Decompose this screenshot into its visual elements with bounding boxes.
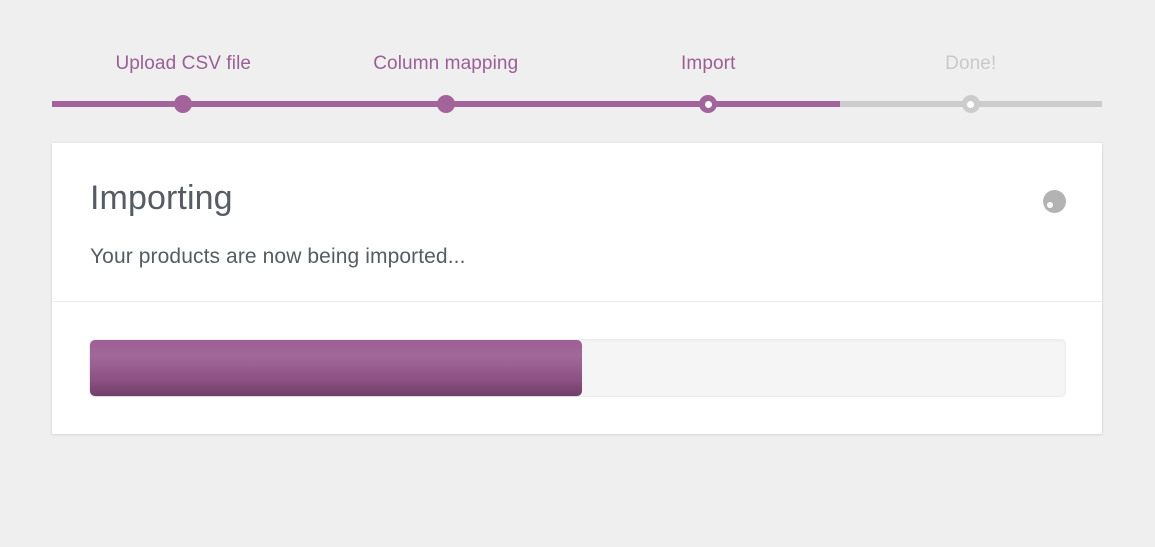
- stepper-dot-inner: [967, 101, 974, 108]
- wizard-stepper: Upload CSV file Column mapping Import Do…: [52, 52, 1102, 110]
- stepper-dot-upload-csv-file[interactable]: [174, 95, 192, 113]
- stepper-label-upload-csv-file[interactable]: Upload CSV file: [115, 52, 251, 76]
- stepper-dot-column-mapping[interactable]: [437, 95, 455, 113]
- import-progress-bar: [89, 339, 1066, 397]
- import-progress-fill: [90, 340, 582, 396]
- import-wizard-page: Upload CSV file Column mapping Import Do…: [0, 0, 1155, 547]
- status-message: Your products are now being imported...: [90, 243, 1064, 271]
- card-header: Importing Your products are now being im…: [52, 143, 1102, 302]
- stepper-dot-inner: [705, 101, 712, 108]
- stepper-label-import[interactable]: Import: [681, 52, 735, 76]
- loading-spinner-icon: [1043, 190, 1066, 213]
- stepper-dot-import[interactable]: [699, 95, 717, 113]
- import-status-card: Importing Your products are now being im…: [52, 143, 1102, 434]
- stepper-label-done: Done!: [945, 52, 996, 76]
- spinner-dot: [1047, 202, 1053, 208]
- page-title: Importing: [90, 177, 1064, 219]
- stepper-labels: Upload CSV file Column mapping Import Do…: [52, 52, 1102, 86]
- card-body: [52, 302, 1102, 434]
- stepper-track: [52, 101, 1102, 107]
- spinner-disc: [1043, 190, 1066, 213]
- stepper-dot-done: [962, 95, 980, 113]
- stepper-label-column-mapping[interactable]: Column mapping: [373, 52, 518, 76]
